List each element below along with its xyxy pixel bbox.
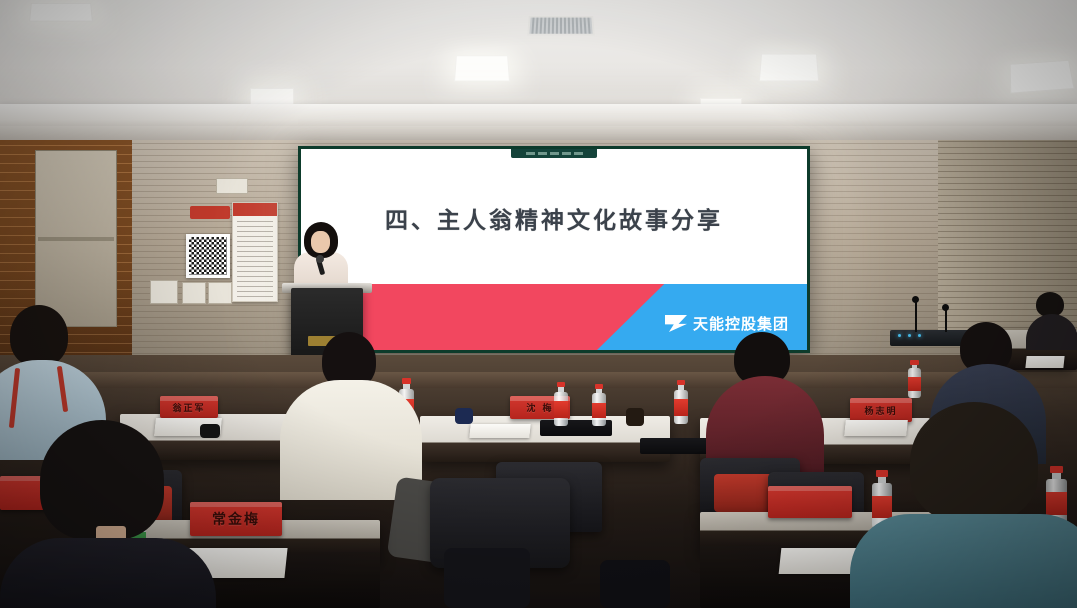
qr-code-icon — [186, 234, 230, 278]
placard-name: 翁正军 — [172, 401, 205, 414]
status-led-icon — [898, 334, 901, 337]
desk-microphone-head-icon — [912, 296, 919, 303]
name-placard: 常金梅 — [190, 502, 282, 536]
desk-microphone-head-icon — [942, 304, 949, 311]
water-bottle-icon — [908, 360, 921, 398]
attendee-teal-polo — [882, 402, 1077, 608]
name-placard: 翁正军 — [160, 396, 218, 418]
presentation-slide: 四、主人翁精神文化故事分享 天能控股集团 — [301, 149, 807, 350]
wall-sign-small — [208, 282, 232, 304]
wall-sign-small — [216, 178, 248, 194]
desk-device — [455, 408, 473, 424]
status-led-icon — [908, 334, 911, 337]
presenter-face — [311, 231, 330, 253]
placard-name: 常金梅 — [212, 509, 260, 529]
wall-poster-notice — [232, 202, 278, 302]
attendee-shoulders — [0, 538, 216, 608]
desk-microphone-stand — [915, 300, 917, 332]
screen-osd-bar — [511, 149, 597, 158]
conference-room-photo: 四、主人翁精神文化故事分享 天能控股集团 — [0, 0, 1077, 608]
room-door[interactable] — [35, 150, 117, 327]
name-placard — [768, 486, 852, 518]
poster-body-text — [237, 221, 273, 297]
table-paper — [469, 424, 530, 438]
wall-sign-small — [150, 280, 178, 304]
water-bottle-icon — [554, 382, 568, 426]
desk-device — [200, 424, 220, 438]
poster-header — [233, 203, 277, 216]
placard-name: 沈 梅 — [526, 401, 553, 414]
wall-badge-red — [190, 206, 230, 219]
microphone-head-icon — [316, 255, 324, 263]
bag-on-floor — [600, 560, 670, 608]
attendee-burgundy-woman — [706, 332, 824, 468]
tianneng-lightning-mark-icon — [665, 315, 687, 332]
desk-device — [626, 408, 644, 426]
attendee-head — [10, 305, 68, 367]
water-bottle-icon — [592, 384, 606, 426]
attendee-left-dark-woman — [18, 420, 198, 608]
bag-on-floor — [444, 548, 530, 608]
attendee-shoulders — [850, 514, 1077, 608]
ceiling-light-icon — [1010, 60, 1075, 93]
slide-title: 四、主人翁精神文化故事分享 — [301, 201, 807, 235]
wall-sign-small — [182, 282, 206, 304]
placard-strip — [190, 502, 282, 507]
attendee-head — [40, 420, 164, 540]
water-bottle-icon — [674, 380, 688, 424]
attendee-head — [910, 402, 1038, 522]
projection-screen: 四、主人翁精神文化故事分享 天能控股集团 — [298, 146, 810, 353]
placard-strip — [768, 486, 852, 491]
ceiling-light-icon — [759, 54, 819, 82]
brand-logo: 天能控股集团 — [665, 313, 789, 334]
brand-logo-text: 天能控股集团 — [693, 313, 789, 334]
status-led-icon — [918, 334, 921, 337]
ceiling-light-icon — [29, 3, 93, 21]
ceiling-light-icon — [454, 56, 510, 82]
air-vent-icon — [527, 16, 595, 36]
